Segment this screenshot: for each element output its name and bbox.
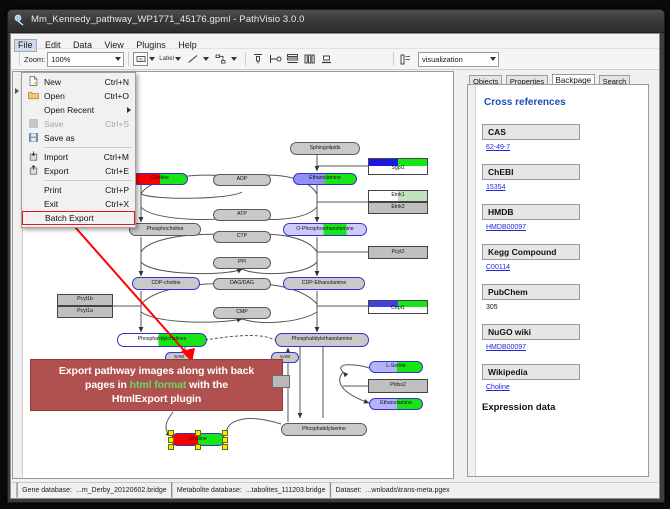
backpage-scrollbar[interactable] <box>468 85 476 476</box>
menu-plugins[interactable]: Plugins <box>132 39 170 52</box>
menu-item-new-label: New <box>44 77 105 87</box>
menu-data[interactable]: Data <box>69 39 96 52</box>
visualization-icon[interactable] <box>398 51 415 67</box>
stack-icon[interactable] <box>318 51 335 67</box>
menu-item-open-label: Open <box>44 91 104 101</box>
export-icon <box>22 165 44 177</box>
menu-item-save-shortcut: Ctrl+S <box>105 119 135 129</box>
svg-text:Gn: Gn <box>139 57 144 61</box>
node-etnk1[interactable]: Etnk1 <box>368 190 428 202</box>
interaction-icon[interactable] <box>213 51 230 67</box>
metabolite-database-label: Metabolite database: <box>177 487 242 494</box>
panel-tab-strip: Objects Properties Backpage Search Legen… <box>463 71 659 85</box>
node-ctp[interactable]: CTP <box>213 231 271 243</box>
visualization-combobox[interactable]: visualization <box>418 52 499 67</box>
node-dag-dag[interactable]: DAG/DAG <box>213 278 271 290</box>
selection-handle[interactable] <box>195 444 201 450</box>
chevron-down-icon[interactable] <box>203 57 209 61</box>
selection-handle[interactable] <box>168 430 174 436</box>
menu-item-import-label: Import <box>44 152 104 162</box>
node-cept1[interactable]: Cept1 <box>368 300 428 314</box>
file-dropdown-menu[interactable]: New Ctrl+N Open Ctrl+O Open Recent <box>21 72 136 228</box>
selection-handle[interactable] <box>222 430 228 436</box>
callout-anchor-stub <box>272 375 290 388</box>
node-phosphatidylethanolamine[interactable]: Phosphatidylethanolamine <box>275 333 369 347</box>
menu-item-open[interactable]: Open Ctrl+O <box>22 89 135 103</box>
node-sphingolipids[interactable]: Sphingolipids <box>290 142 360 155</box>
db-value-wikipedia[interactable]: Choline <box>486 384 642 391</box>
menu-item-save-as[interactable]: Save as <box>22 131 135 145</box>
db-header-hmdb: HMDB <box>482 204 580 220</box>
menu-item-batch-export[interactable]: Batch Export <box>22 211 135 225</box>
menu-item-save-label: Save <box>44 119 105 129</box>
dataset-value: ...wnloads\trans-meta.pgex <box>362 487 450 494</box>
menu-item-export-shortcut: Ctrl+E <box>105 166 135 176</box>
node-cdp-choline[interactable]: CDP-choline <box>132 277 200 290</box>
screen: Mm_Kennedy_pathway_WP1771_45176.gpml - P… <box>0 0 670 509</box>
db-value-nugo-wiki[interactable]: HMDB00097 <box>486 344 642 351</box>
menu-help[interactable]: Help <box>174 39 201 52</box>
node-sgpl1[interactable]: Sgpl1 <box>368 158 428 175</box>
chevron-down-icon <box>490 57 496 61</box>
node-o-phosphoethanolamine[interactable]: O-Phosphoethanolamine <box>283 223 367 236</box>
chevron-down-icon[interactable] <box>231 57 237 61</box>
side-panel: Objects Properties Backpage Search Legen… <box>463 71 659 479</box>
menu-item-open-recent[interactable]: Open Recent <box>22 103 135 117</box>
toolbar-separator <box>19 52 20 66</box>
node-pcyt2[interactable]: Pcyt2 <box>368 246 428 259</box>
selection-handle[interactable] <box>168 437 174 443</box>
annotation-line1: Export pathway images along with back <box>59 365 254 377</box>
node-adp[interactable]: ADP <box>213 174 271 186</box>
annotation-callout: Export pathway images along with back pa… <box>30 359 283 411</box>
pathvisio-icon <box>14 14 27 27</box>
chevron-down-icon[interactable] <box>175 57 181 61</box>
open-folder-icon <box>22 91 44 102</box>
menu-item-export-label: Export <box>44 166 105 176</box>
status-divider: | <box>12 481 22 499</box>
window-title: Mm_Kennedy_pathway_WP1771_45176.gpml - P… <box>31 14 305 25</box>
backpage-panel: Cross references CAS 62-49-7 ChEBI 15354… <box>467 84 649 477</box>
dataset-label: Dataset: <box>336 487 362 494</box>
db-header-kegg-compound: Kegg Compound <box>482 244 580 260</box>
node-pcyt1a[interactable]: Pcyt1a <box>57 306 113 318</box>
menu-item-open-shortcut: Ctrl+O <box>104 91 135 101</box>
import-icon <box>22 151 44 163</box>
db-value-pubchem: 305 <box>486 304 642 311</box>
distribute-vertical-icon[interactable] <box>284 51 301 67</box>
db-header-wikipedia: Wikipedia <box>482 364 580 380</box>
node-ppi[interactable]: PPi <box>213 257 271 269</box>
chevron-right-icon <box>127 107 131 113</box>
menu-item-import[interactable]: Import Ctrl+M <box>22 150 135 164</box>
node-phosphatidylcholines[interactable]: Phosphatidylcholines <box>117 333 207 347</box>
menu-bar: File Edit Data View Plugins Help <box>11 34 659 49</box>
zoom-combobox[interactable]: 100% <box>47 52 124 67</box>
db-header-nugo-wiki: NuGO wiki <box>482 324 580 340</box>
node-ethanolamine-right[interactable]: Ethanolamine <box>369 398 423 410</box>
node-etnk2[interactable]: Etnk2 <box>368 202 428 214</box>
db-header-pubchem: PubChem <box>482 284 580 300</box>
chevron-down-icon <box>115 57 121 61</box>
gene-database-value: ...m_Derby_20120602.bridge <box>72 487 167 494</box>
align-top-icon[interactable] <box>250 51 267 67</box>
distribute-horizontal-icon[interactable] <box>301 51 318 67</box>
menu-item-print[interactable]: Print Ctrl+P <box>22 183 135 197</box>
zoom-value: 100% <box>51 55 70 64</box>
selection-handle[interactable] <box>195 430 201 436</box>
new-document-icon <box>22 76 44 88</box>
toolbar-separator <box>393 52 394 66</box>
menu-item-print-shortcut: Ctrl+P <box>105 185 135 195</box>
title-bar: Mm_Kennedy_pathway_WP1771_45176.gpml - P… <box>8 10 664 33</box>
save-as-icon <box>22 133 44 144</box>
db-header-chebi: ChEBI <box>482 164 580 180</box>
menu-item-exit-label: Exit <box>44 199 105 209</box>
node-cdp-ethanolamine[interactable]: CDP-Ethanolamine <box>283 277 365 290</box>
tool-bar: Zoom: 100% Gn Label <box>11 49 659 70</box>
menu-item-save-as-label: Save as <box>44 133 135 143</box>
node-phosphocholine[interactable]: Phosphocholine <box>129 223 201 236</box>
node-ptdss2[interactable]: Ptdss2 <box>368 379 428 393</box>
menu-item-batch-export-label: Batch Export <box>45 213 134 223</box>
save-icon <box>22 119 44 130</box>
db-value-cas[interactable]: 62-49-7 <box>486 144 642 151</box>
application-window: Mm_Kennedy_pathway_WP1771_45176.gpml - P… <box>7 9 665 503</box>
menu-item-new-shortcut: Ctrl+N <box>105 77 135 87</box>
node-atp[interactable]: ATP <box>213 209 271 221</box>
status-bar: | Gene database: ...m_Derby_20120602.bri… <box>12 482 658 497</box>
backpage-content: Cross references CAS 62-49-7 ChEBI 15354… <box>476 85 648 476</box>
menu-item-exit[interactable]: Exit Ctrl+X <box>22 197 135 211</box>
menu-item-open-recent-label: Open Recent <box>44 105 135 115</box>
selection-handle[interactable] <box>222 437 228 443</box>
metabolite-database-value: ...tabolites_111203.bridge <box>242 487 326 494</box>
cross-references-title: Cross references <box>484 97 642 108</box>
node-choline-top[interactable]: Choline <box>132 173 188 185</box>
annotation-highlight: html format <box>130 379 187 391</box>
status-divider: | <box>167 481 177 499</box>
menu-item-print-label: Print <box>44 185 105 195</box>
gene-database-label: Gene database: <box>22 487 72 494</box>
annotation-line2b: with the <box>186 379 228 391</box>
toolbar-separator <box>128 52 129 66</box>
annotation-line3: HtmlExport plugin <box>112 393 201 405</box>
menu-item-exit-shortcut: Ctrl+X <box>105 199 135 209</box>
db-value-hmdb[interactable]: HMDB00097 <box>486 224 642 231</box>
node-pcyt1b[interactable]: Pcyt1b <box>57 294 113 306</box>
client-area: File Edit Data View Plugins Help Zoom: 1… <box>10 33 660 499</box>
line-icon[interactable] <box>185 51 202 67</box>
annotation-text: Export pathway images along with back pa… <box>55 364 258 406</box>
chevron-down-icon[interactable] <box>149 57 155 61</box>
node-cmp[interactable]: CMP <box>213 307 271 319</box>
db-value-chebi[interactable]: 15354 <box>486 184 642 191</box>
menu-file[interactable]: File <box>14 39 37 52</box>
menu-view[interactable]: View <box>100 39 127 52</box>
toolbar-separator <box>245 52 246 66</box>
selection-handle[interactable] <box>222 444 228 450</box>
label-button[interactable]: Label <box>159 56 174 62</box>
selection-handle[interactable] <box>168 444 174 450</box>
db-header-cas: CAS <box>482 124 580 140</box>
annotation-line2a: pages in <box>85 379 130 391</box>
node-l-serine[interactable]: L-Serine <box>369 361 423 373</box>
menu-item-new[interactable]: New Ctrl+N <box>22 75 135 89</box>
menu-item-save: Save Ctrl+S <box>22 117 135 131</box>
menu-edit[interactable]: Edit <box>41 39 65 52</box>
visualization-value: visualization <box>422 55 463 64</box>
status-divider: | <box>325 481 335 499</box>
node-phosphatidylserine[interactable]: Phosphatidylserine <box>281 423 367 436</box>
datanode-icon[interactable]: Gn <box>133 52 148 66</box>
expression-data-heading: Expression data <box>482 402 642 413</box>
zoom-label: Zoom: <box>24 55 45 64</box>
db-value-kegg-compound[interactable]: C00114 <box>486 264 642 271</box>
menu-item-import-shortcut: Ctrl+M <box>104 152 135 162</box>
node-ethanolamine-top[interactable]: Ethanolamine <box>293 173 357 185</box>
menu-item-export[interactable]: Export Ctrl+E <box>22 164 135 178</box>
align-left-icon[interactable] <box>267 51 284 67</box>
